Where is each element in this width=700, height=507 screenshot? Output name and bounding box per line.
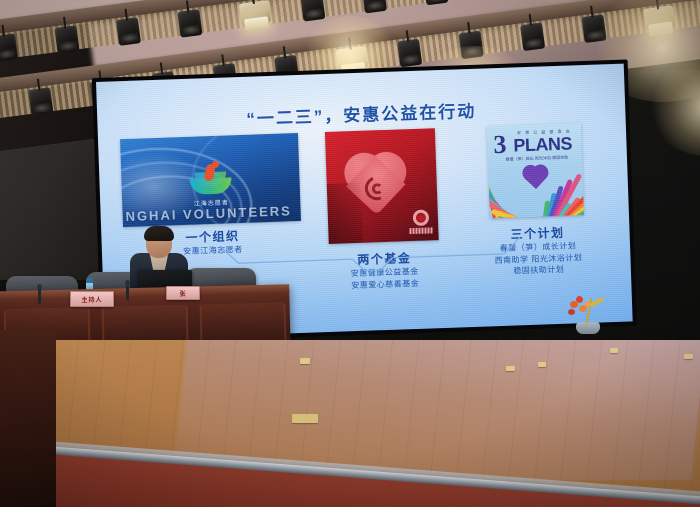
lamp-lens bbox=[32, 102, 51, 113]
stage-spotlight bbox=[423, 0, 448, 5]
lamp-lens bbox=[244, 16, 269, 31]
stage-scene: “一二三”，安惠公益在行动 bbox=[0, 0, 700, 507]
floor-debris bbox=[300, 358, 310, 364]
lamp-housing bbox=[300, 0, 325, 22]
stage-spotlight bbox=[28, 87, 53, 116]
lamp-housing bbox=[397, 39, 422, 68]
lamp-housing bbox=[581, 14, 606, 43]
floor-debris bbox=[506, 366, 515, 371]
flower-arrangement bbox=[566, 278, 612, 334]
floor-debris bbox=[684, 354, 693, 359]
lamp-housing bbox=[643, 5, 676, 31]
lamp-lens bbox=[0, 49, 16, 60]
foreground-wood-column bbox=[0, 330, 56, 507]
lamp-lens bbox=[648, 22, 673, 37]
nameplate-host-text: 主持人 bbox=[81, 295, 102, 304]
desk-microphone bbox=[126, 284, 129, 300]
lamp-housing bbox=[362, 0, 387, 13]
ocean-wave-volunteers-photo: 江海志愿者 NGHAI VOLUNTEERS bbox=[120, 133, 301, 227]
floor-debris bbox=[610, 348, 618, 353]
stage-floor bbox=[0, 340, 700, 507]
lamp-housing bbox=[0, 33, 18, 62]
stage-spotlight bbox=[116, 17, 141, 46]
stage-spotlight bbox=[397, 39, 422, 68]
stage-spotlight bbox=[300, 0, 325, 22]
slide-column-three-plans: 安 惠 公 益 基 金 会 3 PLANS 春蕾（笋）成长·阳光沐浴·稳固扶助 … bbox=[464, 122, 609, 279]
flower-petal bbox=[576, 296, 583, 303]
stage-spotlight bbox=[336, 46, 369, 72]
floor-debris bbox=[538, 362, 546, 367]
nameplate-speaker: 张 bbox=[166, 286, 200, 300]
stage-spotlight bbox=[0, 33, 18, 62]
poster-word: PLANS bbox=[513, 134, 572, 154]
lamp-lens bbox=[462, 46, 481, 57]
lamp-housing bbox=[28, 87, 53, 116]
lamp-housing bbox=[520, 23, 545, 52]
flower-petal bbox=[585, 301, 591, 307]
lamp-lens bbox=[585, 30, 604, 41]
poster-number: 3 bbox=[493, 132, 507, 158]
lamp-lens bbox=[366, 0, 385, 11]
water-bottle-cap bbox=[86, 278, 93, 283]
three-plans-poster: 安 惠 公 益 基 金 会 3 PLANS 春蕾（笋）成长·阳光沐浴·稳固扶助 bbox=[487, 123, 584, 218]
lamp-lens bbox=[524, 38, 543, 49]
stage-spotlight bbox=[239, 0, 272, 26]
nameplate-speaker-text: 张 bbox=[179, 289, 186, 298]
speaker-hair bbox=[144, 226, 174, 241]
stage-spotlight bbox=[459, 31, 484, 60]
stage-spotlight bbox=[177, 9, 202, 38]
stage-spotlight bbox=[643, 5, 676, 31]
desk-microphone bbox=[38, 288, 41, 304]
stage-spotlight bbox=[54, 25, 79, 54]
flower-pot bbox=[576, 322, 600, 334]
lamp-housing bbox=[239, 0, 272, 26]
lamp-lens bbox=[427, 0, 446, 3]
fund-logo-icon bbox=[409, 209, 434, 236]
floor-debris bbox=[292, 414, 318, 423]
lamp-housing bbox=[54, 25, 79, 54]
lamp-housing bbox=[336, 46, 369, 72]
lamp-lens bbox=[304, 8, 323, 19]
lamp-housing bbox=[423, 0, 448, 5]
red-heart-poster bbox=[325, 128, 439, 244]
lamp-yoke bbox=[251, 0, 255, 4]
logo-figure-head bbox=[212, 161, 219, 168]
volunteer-logo-icon bbox=[187, 163, 234, 199]
lamp-lens bbox=[181, 24, 200, 35]
lamp-lens bbox=[58, 40, 77, 51]
flower-petal bbox=[568, 309, 575, 315]
lamp-housing bbox=[459, 31, 484, 60]
fund-logo-text bbox=[409, 227, 433, 234]
slide-column-two-funds: 两个基金 安惠健康公益基金 安惠爱心慈善基金 bbox=[320, 128, 446, 292]
lamp-lens bbox=[401, 54, 420, 65]
lamp-housing bbox=[116, 17, 141, 46]
purple-heart-icon bbox=[522, 164, 549, 189]
fund-logo-ring bbox=[413, 209, 430, 226]
stage-spotlight bbox=[520, 23, 545, 52]
lamp-lens bbox=[120, 32, 139, 43]
nameplate-host: 主持人 bbox=[70, 291, 114, 307]
stage-spotlight bbox=[362, 0, 387, 13]
lamp-housing bbox=[177, 9, 202, 38]
stage-spotlight bbox=[581, 14, 606, 43]
poster-shadow-corner bbox=[327, 183, 363, 244]
